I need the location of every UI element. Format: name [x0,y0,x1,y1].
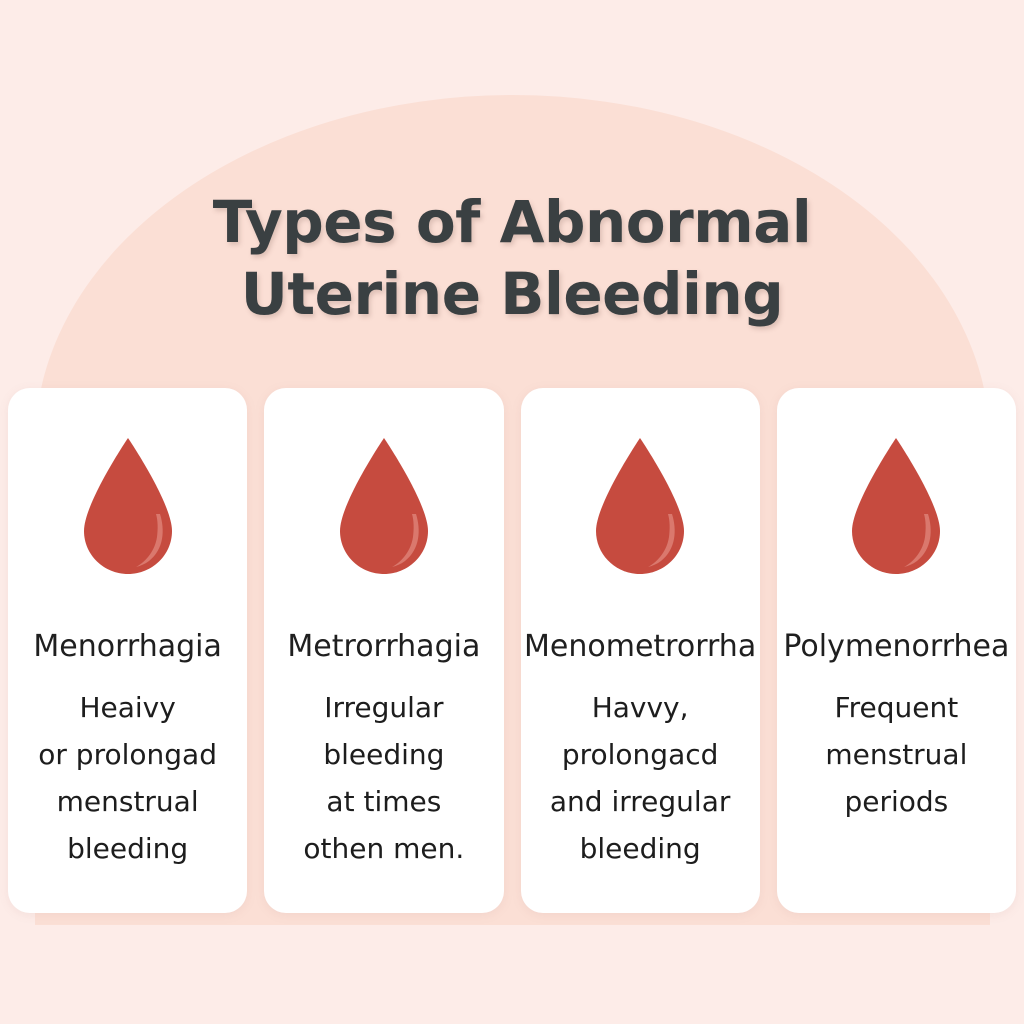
card-title: Polymenorrhea [777,630,1016,664]
card-title: Metrorrhagia [264,630,503,664]
title-line-2: Uterine Bleeding [0,258,1024,330]
infographic-poster: Types of Abnormal Uterine Bleeding Menor… [0,0,1024,1024]
blood-drop-icon [75,435,181,577]
title-line-1: Types of Abnormal [0,186,1024,258]
blood-drop-icon [843,435,949,577]
card-description: Frequent menstrual periods [777,684,1016,825]
page-title: Types of Abnormal Uterine Bleeding [0,186,1024,330]
card-description: Havvy, prolongacd and irregular bleeding [521,684,760,872]
card-menorrhagia[interactable]: Menorrhagia Heaivy or prolongad menstrua… [8,388,247,913]
card-description: Heaivy or prolongad menstrual bleeding [8,684,247,872]
card-row: Menorrhagia Heaivy or prolongad menstrua… [8,388,1016,913]
card-title: Menometrorrha [521,630,760,664]
card-description: Irregular bleeding at times othen men. [264,684,503,872]
blood-drop-icon [587,435,693,577]
card-menometrorrhagia[interactable]: Menometrorrha Havvy, prolongacd and irre… [521,388,760,913]
card-polymenorrhea[interactable]: Polymenorrhea Frequent menstrual periods [777,388,1016,913]
card-title: Menorrhagia [8,630,247,664]
card-metrorrhagia[interactable]: Metrorrhagia Irregular bleeding at times… [264,388,503,913]
blood-drop-icon [331,435,437,577]
